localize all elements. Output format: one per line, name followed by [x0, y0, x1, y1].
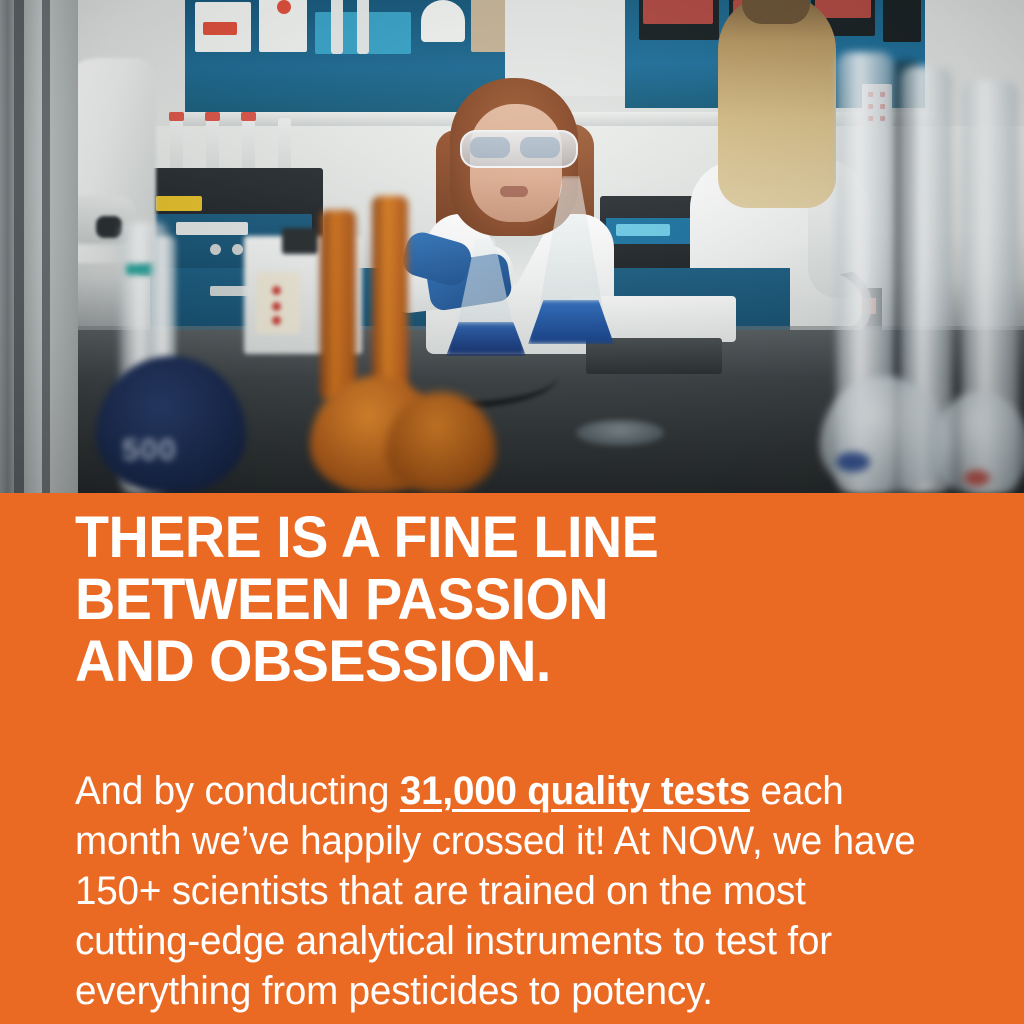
headline-line-1: THERE IS A FINE LINE — [75, 507, 920, 569]
headline-line-3: AND OBSESSION. — [75, 631, 920, 693]
headline: THERE IS A FINE LINE BETWEEN PASSION AND… — [75, 507, 920, 693]
headline-line-2: BETWEEN PASSION — [75, 569, 920, 631]
body-text-before: And by conducting — [75, 769, 400, 813]
body-paragraph: And by conducting 31,000 quality tests e… — [75, 766, 924, 1016]
lab-photo: 500 — [0, 0, 1024, 493]
quality-tests-highlight: 31,000 quality tests — [400, 769, 750, 813]
orange-text-panel: THERE IS A FINE LINE BETWEEN PASSION AND… — [0, 493, 1024, 1024]
photo-vignette — [0, 0, 1024, 493]
promotional-poster: 500 THERE IS A FINE LINE BETWEEN PASSION… — [0, 0, 1024, 1024]
